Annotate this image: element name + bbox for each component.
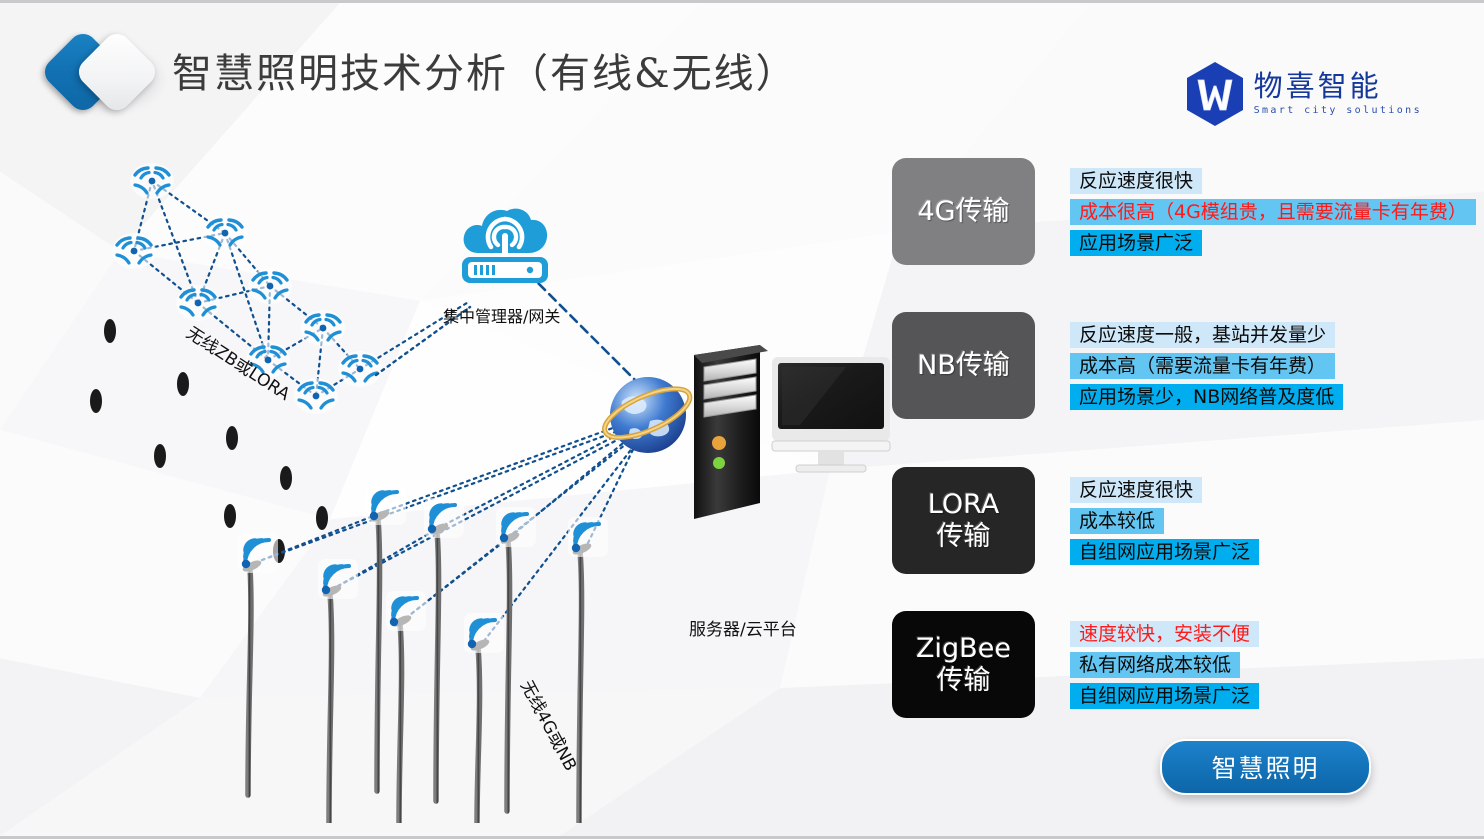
tech-chip-nb[interactable]: NB传输 [892,312,1035,419]
brand-name-en: Smart city solutions [1254,106,1422,116]
tech-row-lora: LORA 传输 反应速度很快 成本较低 自组网应用场景广泛 [892,467,1259,574]
tech-chip-lora[interactable]: LORA 传输 [892,467,1035,574]
bullet-item: 反应速度很快 [1070,168,1202,194]
tech-chip-lora-line2: 传输 [937,521,991,552]
wifi-signal-icon [238,485,608,653]
router-gateway-icon [462,209,548,283]
tech-chip-4g[interactable]: 4G传输 [892,158,1035,265]
bullet-item: 反应速度一般，基站并发量少 [1070,322,1335,348]
bullet-item: 自组网应用场景广泛 [1070,683,1259,709]
tech-row-zigbee: ZigBee 传输 速度较快，安装不便 私有网络成本较低 自组网应用场景广泛 [892,611,1259,718]
bullet-item: 速度较快，安装不便 [1070,621,1259,647]
bullet-item: 应用场景广泛 [1070,230,1202,256]
slide-canvas: 智慧照明技术分析（有线&无线） 物喜智能 Smart city solution… [0,0,1484,839]
bullet-list-4g: 反应速度很快 成本很高（4G模组贵，且需要流量卡有年费） 应用场景广泛 [1070,168,1476,256]
bullet-list-lora: 反应速度很快 成本较低 自组网应用场景广泛 [1070,477,1259,565]
smart-lighting-button[interactable]: 智慧照明 [1160,739,1371,795]
tech-row-nb: NB传输 反应速度一般，基站并发量少 成本高（需要流量卡有年费） 应用场景少，N… [892,312,1343,419]
hexagon-w-icon [1185,61,1245,127]
bullet-list-zigbee: 速度较快，安装不便 私有网络成本较低 自组网应用场景广泛 [1070,621,1259,709]
bullet-item: 自组网应用场景广泛 [1070,539,1259,565]
tech-row-4g: 4G传输 反应速度很快 成本很高（4G模组贵，且需要流量卡有年费） 应用场景广泛 [892,158,1476,265]
bullet-item: 反应速度很快 [1070,477,1202,503]
tech-chip-lora-line1: LORA [928,489,999,520]
bullet-item: 私有网络成本较低 [1070,652,1240,678]
network-diagram: 无线ZB或LORA 集中管理器/网关 无线4G或NB 服务器/云平台 [0,123,900,823]
diamond-logo-icon [48,31,168,115]
brand-logo: 物喜智能 Smart city solutions [1185,61,1422,127]
desktop-monitor-icon [772,357,890,472]
tech-chip-zigbee[interactable]: ZigBee 传输 [892,611,1035,718]
tech-chip-zigbee-line1: ZigBee [916,633,1011,664]
server-tower-icon [694,345,768,519]
brand-name-cn: 物喜智能 [1254,72,1422,101]
label-gateway: 集中管理器/网关 [443,303,560,327]
bullet-item: 成本较低 [1070,508,1164,534]
page-title: 智慧照明技术分析（有线&无线） [172,41,798,99]
bullet-item: 应用场景少，NB网络普及度低 [1070,384,1343,410]
bullet-item: 成本高（需要流量卡有年费） [1070,353,1335,379]
tech-chip-zigbee-line2: 传输 [936,665,990,696]
label-server: 服务器/云平台 [689,615,797,640]
bullet-list-nb: 反应速度一般，基站并发量少 成本高（需要流量卡有年费） 应用场景少，NB网络普及… [1070,322,1343,410]
bullet-item: 成本很高（4G模组贵，且需要流量卡有年费） [1070,199,1476,225]
